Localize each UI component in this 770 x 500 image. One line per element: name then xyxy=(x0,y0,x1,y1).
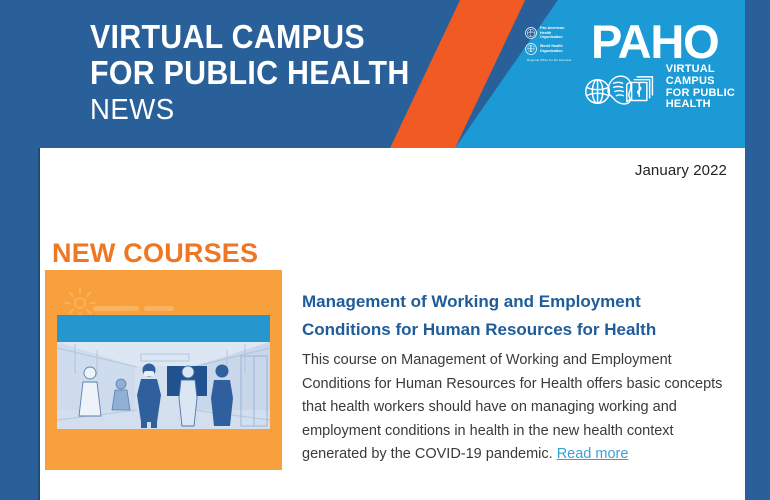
vc-line1: VIRTUAL xyxy=(666,63,715,75)
vc-line2: CAMPUS xyxy=(666,75,715,87)
virtual-campus-wordmark: VIRTUAL CAMPUS FOR PUBLIC HEALTH xyxy=(666,64,735,110)
page-frame-left-rail xyxy=(0,0,38,500)
section-heading-new-courses: NEW COURSES xyxy=(52,238,258,269)
seal-pa-line2: Health xyxy=(540,31,551,35)
issue-date: January 2022 xyxy=(635,162,727,179)
seal-subtitle: Regional Office for the Americas xyxy=(527,58,587,62)
read-more-link[interactable]: Read more xyxy=(557,446,629,462)
seal-row-pan-american: Pan American Health Organization xyxy=(525,26,587,40)
world-health-organization-seal-icon xyxy=(525,43,537,55)
vc-line4: HEALTH xyxy=(666,98,711,110)
course-thumbnail[interactable] xyxy=(45,270,282,470)
banner-title-line2: FOR PUBLIC HEALTH xyxy=(90,56,410,89)
organization-seals: Pan American Health Organization xyxy=(525,22,587,62)
course-title[interactable]: Management of Working and Employment Con… xyxy=(302,288,727,343)
seal-pa-line1: Pan American xyxy=(540,26,564,30)
banner-title-line1: VIRTUAL CAMPUS xyxy=(90,20,410,53)
course-thumbnail-illustration xyxy=(45,270,282,470)
banner-title-line3: NEWS xyxy=(90,96,420,125)
course-description: This course on Management of Working and… xyxy=(302,349,727,466)
banner-title: VIRTUAL CAMPUS FOR PUBLIC HEALTH NEWS xyxy=(90,20,437,125)
page-frame-right-rail xyxy=(745,0,770,500)
seal-pa-line3: Organization xyxy=(540,35,563,39)
paho-logo-lockup: Pan American Health Organization xyxy=(525,22,735,127)
virtual-campus-emblem-icon xyxy=(583,67,661,109)
logo-top-row: Pan American Health Organization xyxy=(525,22,735,62)
seal-who-line1: World Health xyxy=(540,44,563,48)
logo-bottom-row: VIRTUAL CAMPUS FOR PUBLIC HEALTH xyxy=(583,64,735,110)
seal-who-text: World Health Organization xyxy=(540,44,563,53)
seal-who-line2: Organization xyxy=(540,49,563,53)
vc-line3: FOR PUBLIC xyxy=(666,87,735,99)
course-card-body: Management of Working and Employment Con… xyxy=(302,288,727,466)
seal-row-who: World Health Organization xyxy=(525,43,587,55)
seal-pan-american-text: Pan American Health Organization xyxy=(540,26,564,40)
content-sheet: January 2022 NEW COURSES xyxy=(40,148,745,500)
header-banner: VIRTUAL CAMPUS FOR PUBLIC HEALTH NEWS xyxy=(38,0,745,148)
course-description-text: This course on Management of Working and… xyxy=(302,352,722,462)
pan-american-health-seal-icon xyxy=(525,27,537,39)
newsletter-page: VIRTUAL CAMPUS FOR PUBLIC HEALTH NEWS xyxy=(0,0,770,500)
paho-wordmark: PAHO xyxy=(591,22,719,62)
